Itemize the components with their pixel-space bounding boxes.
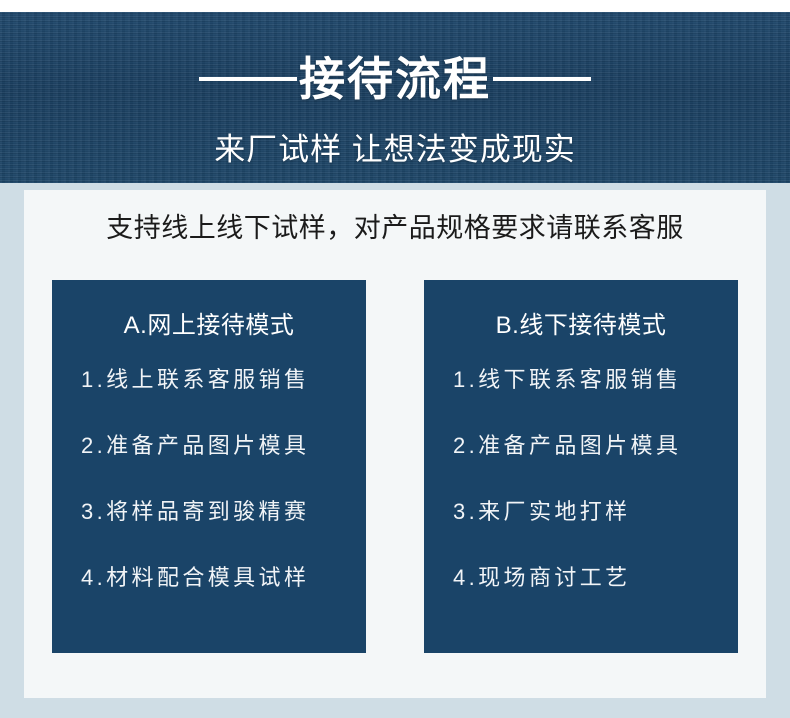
list-item: 4.材料配合模具试样: [52, 567, 366, 589]
page-title: 接待流程: [299, 56, 491, 102]
list-item: 4.现场商讨工艺: [424, 567, 738, 589]
panel-b-step-list: 1.线下联系客服销售 2.准备产品图片模具 3.来厂实地打样 4.现场商讨工艺: [424, 369, 738, 589]
list-item: 3.来厂实地打样: [424, 501, 738, 523]
list-item: 1.线下联系客服销售: [424, 369, 738, 391]
card-heading: 支持线上线下试样，对产品规格要求请联系客服: [24, 215, 766, 242]
list-item: 2.准备产品图片模具: [52, 435, 366, 457]
reception-mode-panel-b: B.线下接待模式 1.线下联系客服销售 2.准备产品图片模具 3.来厂实地打样 …: [424, 280, 738, 653]
list-item: 1.线上联系客服销售: [52, 369, 366, 391]
page-subtitle: 来厂试样 让想法变成现实: [0, 134, 790, 165]
panel-a-step-list: 1.线上联系客服销售 2.准备产品图片模具 3.将样品寄到骏精赛 4.材料配合模…: [52, 369, 366, 589]
reception-mode-panel-a: A.网上接待模式 1.线上联系客服销售 2.准备产品图片模具 3.将样品寄到骏精…: [52, 280, 366, 653]
panel-b-title: B.线下接待模式: [424, 314, 738, 338]
title-rule-right-icon: [493, 77, 591, 81]
list-item: 3.将样品寄到骏精赛: [52, 501, 366, 523]
list-item: 2.准备产品图片模具: [424, 435, 738, 457]
panel-a-title: A.网上接待模式: [52, 314, 366, 338]
title-rule-left-icon: [199, 77, 297, 81]
promo-page: 接待流程 来厂试样 让想法变成现实 支持线上线下试样，对产品规格要求请联系客服 …: [0, 0, 790, 718]
header-banner: 接待流程 来厂试样 让想法变成现实: [0, 12, 790, 183]
content-card: 支持线上线下试样，对产品规格要求请联系客服 A.网上接待模式 1.线上联系客服销…: [24, 190, 766, 698]
banner-title-row: 接待流程: [0, 56, 790, 102]
